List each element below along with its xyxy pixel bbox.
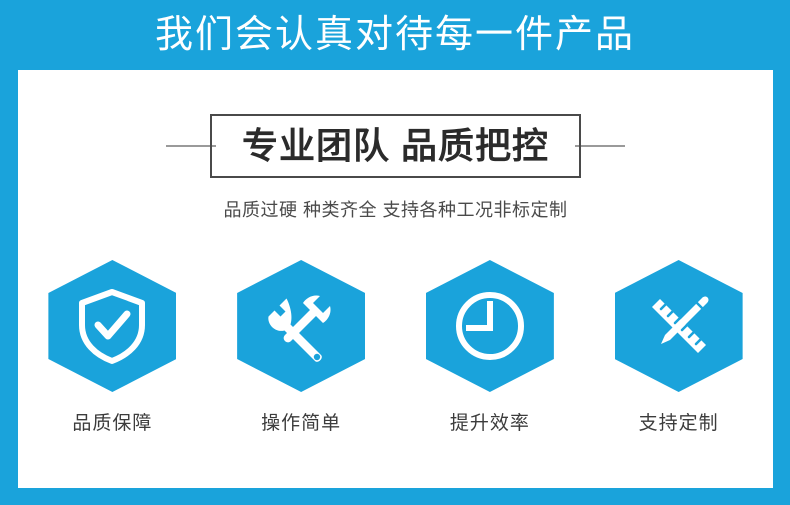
section-title-box: 专业团队 品质把控: [210, 114, 581, 178]
title-rule-left: [166, 145, 216, 147]
shield-check-icon: [76, 287, 148, 365]
section-title-block: 专业团队 品质把控: [18, 114, 773, 178]
feature-item-efficiency: 提升效率: [410, 260, 570, 435]
section-subtitle: 品质过硬 种类齐全 支持各种工况非标定制: [18, 196, 773, 222]
feature-list: 品质保障: [18, 260, 773, 435]
feature-item-customization: 支持定制: [599, 260, 759, 435]
feature-label: 支持定制: [639, 408, 719, 435]
hexagon-badge: [48, 260, 176, 392]
hexagon-badge: [237, 260, 365, 392]
feature-label: 操作简单: [261, 408, 341, 435]
feature-label: 品质保障: [72, 408, 152, 435]
banner-header: 我们会认真对待每一件产品: [0, 0, 790, 70]
clock-icon: [452, 288, 528, 364]
feature-label: 提升效率: [450, 408, 530, 435]
ruler-pencil-icon: [640, 287, 718, 365]
promo-banner: 我们会认真对待每一件产品 专业团队 品质把控 品质过硬 种类齐全 支持各种工况非…: [0, 0, 790, 505]
feature-item-operation: 操作简单: [221, 260, 381, 435]
content-panel: 专业团队 品质把控 品质过硬 种类齐全 支持各种工况非标定制 品质保障: [18, 70, 773, 488]
section-title: 专业团队 品质把控: [242, 128, 549, 164]
banner-header-title: 我们会认真对待每一件产品: [155, 16, 635, 54]
wrench-hammer-icon: [263, 288, 339, 364]
hexagon-badge: [615, 260, 743, 392]
title-rule-right: [575, 145, 625, 147]
feature-item-quality: 品质保障: [32, 260, 192, 435]
hexagon-badge: [426, 260, 554, 392]
